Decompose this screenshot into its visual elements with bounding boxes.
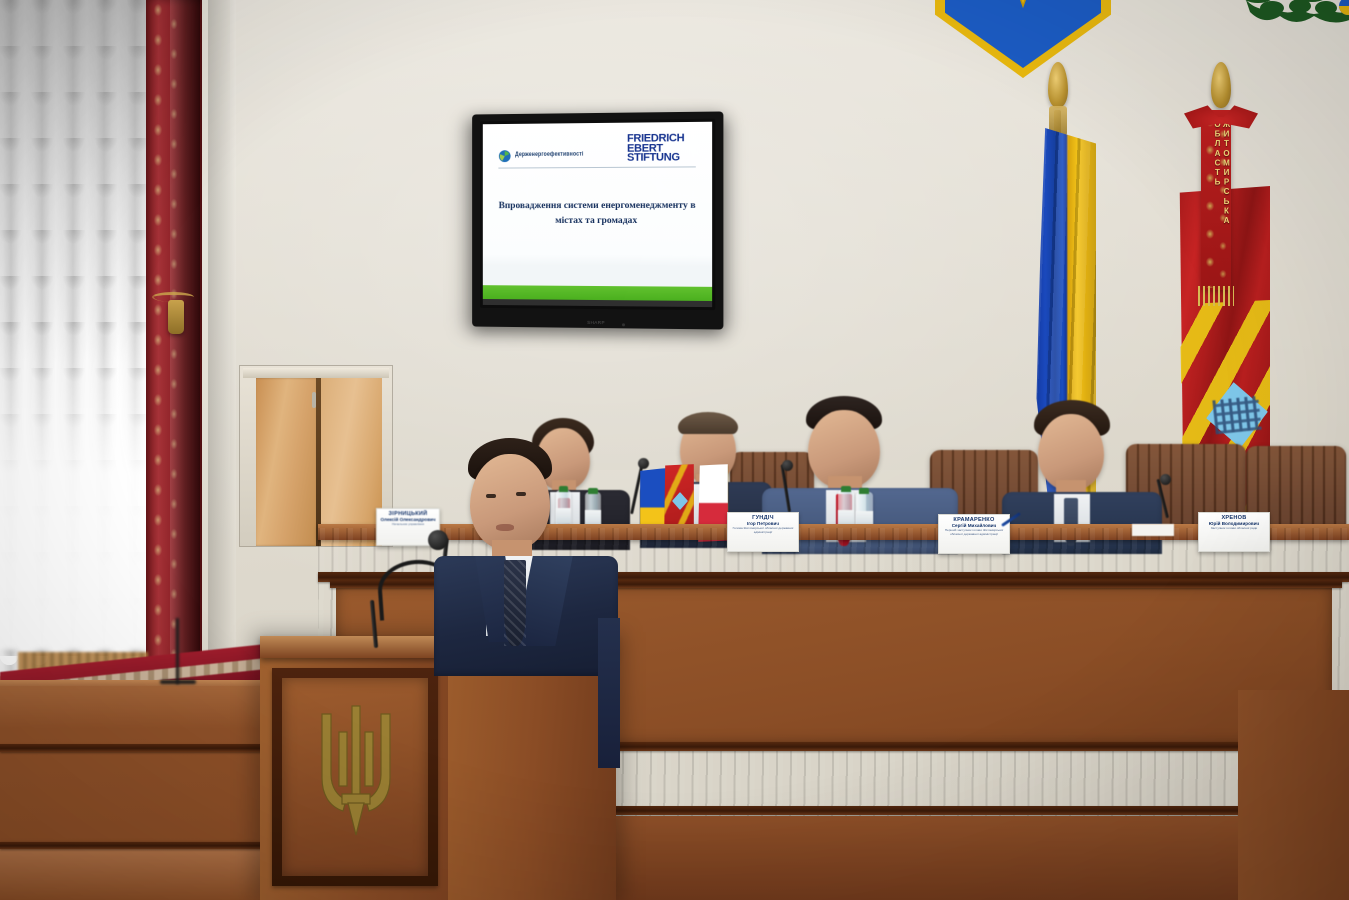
speaker-head [470, 454, 550, 550]
bottle-cap [841, 486, 851, 492]
speaker-mouth [496, 524, 514, 531]
podium-microphone-head [428, 530, 448, 550]
microphone-head [638, 458, 649, 469]
zhytomyr-emblem-detail [1212, 396, 1261, 435]
tv-brand-label: SHARP [587, 320, 605, 325]
door-leaf-right[interactable] [320, 378, 382, 546]
drape-fold-shadow [170, 0, 200, 700]
door-handle[interactable] [312, 392, 316, 408]
tv-power-led [622, 323, 625, 326]
conference-hall-photo: Держенергоефективності FRIEDRICH EBERT S… [0, 0, 1349, 900]
speaker-arm-right [598, 618, 620, 768]
bottle-label [556, 508, 571, 524]
podium-tryzub-icon [314, 700, 398, 852]
door-leaf-left[interactable] [256, 378, 318, 546]
wall-coat-of-arms [935, 0, 1111, 78]
nameplate-role: Начальник управління [390, 523, 426, 527]
door-mullion [316, 378, 321, 546]
microphone-head [1160, 474, 1171, 485]
speaker-tie-pattern [504, 560, 526, 646]
door-lintel [243, 368, 389, 378]
derzhenergoefektyvnosti-logo-icon [498, 150, 511, 163]
banner-ribbon-fringe [1198, 286, 1234, 306]
wall-corner-edge [208, 0, 236, 700]
right-wood-panel [1238, 690, 1349, 900]
banner-ribbon-text: ЖИТОМИРСЬКА ОБЛАСТЬ [1201, 120, 1231, 290]
fes-line-3: STIFTUNG [627, 153, 702, 163]
floor-mic-base [160, 680, 196, 684]
bottle-cap [859, 488, 869, 494]
laurel-wreath-icon [1238, 0, 1349, 34]
podium-side-panel [448, 652, 616, 900]
khrenov-head [1038, 414, 1104, 490]
tryzub-icon [975, 0, 1071, 18]
speaker-eye-right [516, 492, 526, 496]
nameplate-kramarenko: КРАМАРЕНКО Сергій Михайлович Перший заст… [938, 514, 1010, 554]
nameplate-hundych: ГУНДІЧ Ігор Петрович Голова Житомирської… [727, 512, 799, 552]
slide-logo-text: Держенергоефективності [515, 151, 634, 159]
bottle-cap [559, 486, 568, 492]
papers[interactable] [1132, 524, 1174, 536]
fes-logo: FRIEDRICH EBERT STIFTUNG [627, 134, 702, 164]
speaker-eye-left [486, 494, 496, 498]
microphone-head [782, 460, 793, 471]
bottle-cap [588, 488, 598, 494]
nameplate-role: Перший заступник голови Житомирської обл… [939, 529, 1009, 537]
slide-content: Держенергоефективності FRIEDRICH EBERT S… [483, 122, 712, 307]
presentation-screen[interactable]: Держенергоефективності FRIEDRICH EBERT S… [472, 111, 723, 329]
nameplate-khrenov: ХРЕНОВ Юрій Володимирович Заступник голо… [1198, 512, 1270, 552]
floor-mic-stand[interactable] [176, 618, 179, 684]
slide-title: Впровадження системи енергоменеджменту в… [496, 199, 697, 228]
slide-divider [498, 166, 695, 168]
nameplate-role: Заступник голови обласної ради [1209, 527, 1260, 531]
curtain-tassel [168, 300, 184, 334]
nameplate-role: Голова Житомирської обласної державної а… [728, 527, 798, 535]
